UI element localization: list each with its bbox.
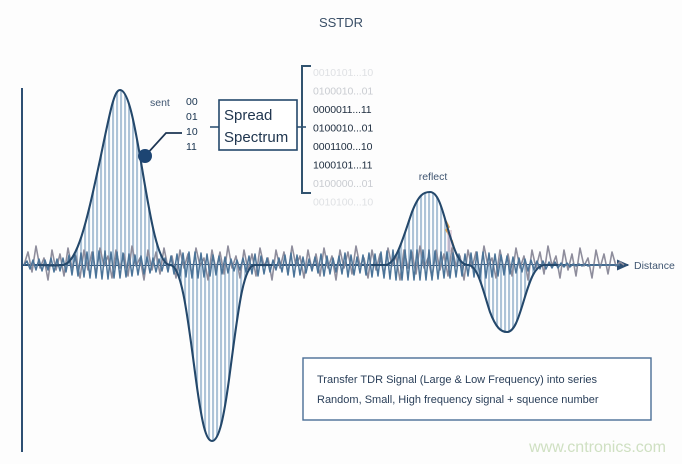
sequence-row-5: 1000101...11: [313, 160, 373, 172]
sequence-row-1: 0100010...01: [313, 86, 373, 98]
sstdr-diagram-page: SSTDR Distance sent: [0, 0, 682, 464]
sent-leader-line: [146, 133, 182, 155]
spread-spectrum-line1: Spread: [224, 107, 272, 124]
sequence-row-2: 0000011...11: [313, 104, 372, 116]
sequence-row-7: 0010100...10: [313, 197, 373, 209]
sent-marker-dot[interactable]: [138, 149, 152, 163]
sequence-row-4: 0001100...10: [313, 141, 373, 153]
sstdr-svg-canvas: SSTDR Distance sent: [0, 0, 682, 464]
binary-code-2: 10: [186, 126, 198, 138]
sequence-row-6: 0100000...01: [313, 178, 373, 190]
sequence-row-3: 0100010...01: [313, 123, 373, 135]
binary-code-0: 00: [186, 96, 198, 108]
spread-spectrum-box[interactable]: Spread Spectrum: [219, 100, 297, 150]
sequence-row-0: 0010101...10: [313, 67, 373, 79]
binary-code-1: 01: [186, 111, 198, 123]
binary-code-list: 00 01 10 11: [186, 96, 198, 153]
sent-label: sent: [150, 97, 170, 109]
watermark-text: www.cntronics.com: [528, 439, 666, 456]
caption-line-1: Transfer TDR Signal (Large & Low Frequen…: [317, 374, 598, 386]
x-axis-label: Distance: [634, 260, 675, 272]
spread-spectrum-line2: Spectrum: [224, 129, 288, 146]
caption-box: Transfer TDR Signal (Large & Low Frequen…: [303, 358, 651, 420]
sequence-list: 0010101...100100010...010000011...110100…: [313, 67, 373, 209]
caption-line-2: Random, Small, High frequency signal + s…: [317, 394, 599, 406]
binary-code-3: 11: [186, 141, 197, 153]
sequence-bracket-icon: [302, 66, 311, 193]
reflect-label: reflect: [419, 171, 448, 183]
page-title: SSTDR: [319, 15, 363, 30]
